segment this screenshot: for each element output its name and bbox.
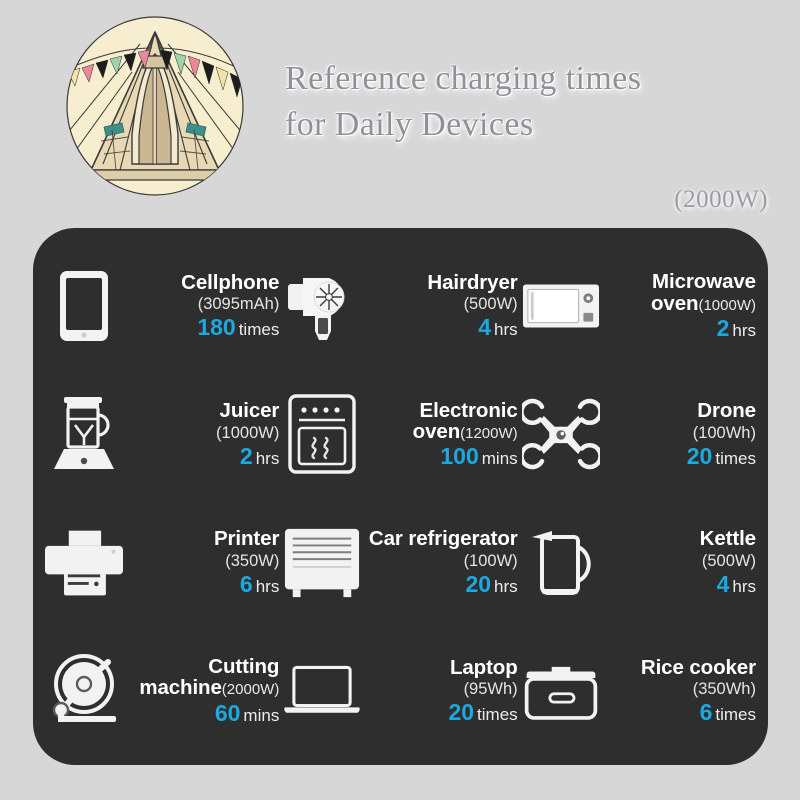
device-name-line-1: Cutting <box>208 656 279 677</box>
device-value-unit: mins <box>243 706 279 725</box>
device-value-unit: hrs <box>256 577 280 596</box>
device-info: Printer (350W) 6hrs <box>123 528 279 596</box>
device-power: (3095mAh) <box>198 296 280 313</box>
device-info: Electronic oven(1200W) 100mins <box>361 400 517 470</box>
car-refrigerator-icon <box>283 521 361 605</box>
device-row: Cellphone (3095mAh) 180times <box>43 245 758 367</box>
device-value-number: 2 <box>717 315 730 341</box>
title-line-1: Reference charging times <box>285 56 745 102</box>
page-title: Reference charging times for Daily Devic… <box>285 56 745 148</box>
device-card-microwave-oven[interactable]: Microwave oven(1000W) 2hrs <box>520 245 758 367</box>
device-value-unit: hrs <box>732 321 756 340</box>
device-value: 20hrs <box>465 573 517 597</box>
device-name: Printer <box>214 528 279 549</box>
total-power-label: (2000W) <box>674 186 768 214</box>
device-power: (2000W) <box>222 681 280 698</box>
rice-cooker-icon <box>522 649 600 733</box>
device-value-number: 20 <box>687 443 713 469</box>
device-row: Cutting machine(2000W) 60mins Laptop (95… <box>43 630 758 752</box>
device-info: Microwave oven(1000W) 2hrs <box>600 271 756 341</box>
title-line-2: for Daily Devices <box>285 102 745 148</box>
device-value-number: 4 <box>717 571 730 597</box>
device-name: Car refrigerator <box>369 528 518 549</box>
device-power: (500W) <box>464 296 518 313</box>
device-power: (1000W) <box>698 297 756 314</box>
device-name: Kettle <box>700 528 756 549</box>
device-name: Rice cooker <box>641 657 756 678</box>
device-value-number: 2 <box>240 443 253 469</box>
device-info: Car refrigerator (100W) 20hrs <box>361 528 517 596</box>
device-value-number: 100 <box>440 443 478 469</box>
device-value: 180times <box>197 316 279 340</box>
device-info: Cutting machine(2000W) 60mins <box>123 656 279 726</box>
device-power: (95Wh) <box>464 681 518 698</box>
device-info: Kettle (500W) 4hrs <box>600 528 756 596</box>
device-value-unit: hrs <box>494 320 518 339</box>
device-card-drone[interactable]: Drone (100Wh) 20times <box>520 373 758 495</box>
device-value: 60mins <box>215 702 280 726</box>
device-value-unit: times <box>239 320 280 339</box>
cellphone-icon <box>45 264 123 348</box>
device-name-line-1: Electronic <box>420 400 518 421</box>
device-value: 2hrs <box>717 317 756 341</box>
device-info: Juicer (1000W) 2hrs <box>123 400 279 468</box>
device-name-line-2: oven(1000W) <box>651 293 756 314</box>
device-card-electronic-oven[interactable]: Electronic oven(1200W) 100mins <box>281 373 519 495</box>
device-name-line-2: oven(1200W) <box>413 421 518 442</box>
hairdryer-icon <box>283 264 361 348</box>
device-value-unit: times <box>715 705 756 724</box>
device-row: Printer (350W) 6hrs <box>43 502 758 624</box>
device-card-laptop[interactable]: Laptop (95Wh) 20times <box>281 630 519 752</box>
device-value-number: 20 <box>448 699 474 725</box>
device-value-number: 180 <box>197 314 235 340</box>
header: Reference charging times for Daily Devic… <box>0 0 800 228</box>
device-name: Drone <box>697 400 756 421</box>
device-name-part: oven <box>413 420 460 443</box>
device-name: Laptop <box>450 657 518 678</box>
electronic-oven-icon <box>283 392 361 476</box>
device-value-unit: times <box>715 449 756 468</box>
device-power: (350Wh) <box>693 681 756 698</box>
device-card-cutting-machine[interactable]: Cutting machine(2000W) 60mins <box>43 630 281 752</box>
device-value: 100mins <box>440 445 517 469</box>
device-info: Drone (100Wh) 20times <box>600 400 756 468</box>
device-value: 6times <box>700 701 756 725</box>
device-value-number: 6 <box>700 699 713 725</box>
device-value-number: 20 <box>465 571 491 597</box>
device-value-unit: hrs <box>732 577 756 596</box>
device-info: Hairdryer (500W) 4hrs <box>361 272 517 340</box>
device-value-unit: times <box>477 705 518 724</box>
device-card-car-refrigerator[interactable]: Car refrigerator (100W) 20hrs <box>281 502 519 624</box>
device-name-part: machine <box>139 676 221 699</box>
device-card-hairdryer[interactable]: Hairdryer (500W) 4hrs <box>281 245 519 367</box>
device-value-number: 60 <box>215 700 241 726</box>
device-name: Cellphone <box>181 272 279 293</box>
device-power: (1200W) <box>460 425 518 442</box>
device-value-number: 6 <box>240 571 253 597</box>
device-value-unit: hrs <box>494 577 518 596</box>
device-power: (350W) <box>225 553 279 570</box>
device-name-line-1: Microwave <box>652 271 756 292</box>
device-grid-panel: Cellphone (3095mAh) 180times <box>33 228 768 765</box>
device-power: (100W) <box>464 553 518 570</box>
device-value-number: 4 <box>478 314 491 340</box>
camping-tent-illustration <box>48 14 263 199</box>
device-info: Rice cooker (350Wh) 6times <box>600 657 756 725</box>
device-card-rice-cooker[interactable]: Rice cooker (350Wh) 6times <box>520 630 758 752</box>
device-value: 6hrs <box>240 573 279 597</box>
juicer-icon <box>45 392 123 476</box>
device-power: (500W) <box>702 553 756 570</box>
cutting-machine-icon <box>45 649 123 733</box>
kettle-icon <box>522 521 600 605</box>
device-power: (1000W) <box>216 425 279 442</box>
device-value: 20times <box>448 701 517 725</box>
device-card-kettle[interactable]: Kettle (500W) 4hrs <box>520 502 758 624</box>
laptop-icon <box>283 649 361 733</box>
device-value-unit: mins <box>482 449 518 468</box>
device-name-line-2: machine(2000W) <box>139 677 279 698</box>
device-card-juicer[interactable]: Juicer (1000W) 2hrs <box>43 373 281 495</box>
device-card-cellphone[interactable]: Cellphone (3095mAh) 180times <box>43 245 281 367</box>
device-value: 20times <box>687 445 756 469</box>
device-power: (100Wh) <box>693 425 756 442</box>
device-row: Juicer (1000W) 2hrs <box>43 373 758 495</box>
device-value: 2hrs <box>240 445 279 469</box>
device-name: Juicer <box>220 400 280 421</box>
device-value: 4hrs <box>478 316 517 340</box>
device-value-unit: hrs <box>256 449 280 468</box>
drone-icon <box>522 392 600 476</box>
device-name: Hairdryer <box>427 272 517 293</box>
device-info: Laptop (95Wh) 20times <box>361 657 517 725</box>
device-name-part: oven <box>651 292 698 315</box>
microwave-oven-icon <box>522 264 600 348</box>
device-value: 4hrs <box>717 573 756 597</box>
device-card-printer[interactable]: Printer (350W) 6hrs <box>43 502 281 624</box>
printer-icon <box>45 521 123 605</box>
device-info: Cellphone (3095mAh) 180times <box>123 272 279 340</box>
